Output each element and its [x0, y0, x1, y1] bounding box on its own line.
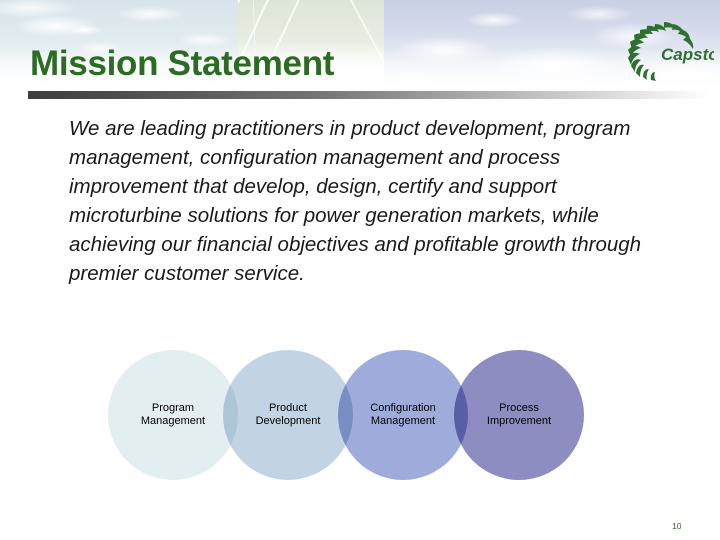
- circle-label-program-management: Program Management: [108, 348, 238, 482]
- circle-label-line2: Management: [371, 415, 435, 429]
- overlapping-circles-diagram: Program Management Product Development C…: [108, 348, 586, 482]
- circle-label-line1: Configuration: [370, 402, 435, 416]
- page-number: 10: [672, 521, 681, 531]
- logo-wordmark: Capstone: [661, 45, 714, 64]
- circle-label-process-improvement: Process Improvement: [454, 348, 584, 482]
- circle-label-line2: Management: [141, 415, 205, 429]
- circle-label-line1: Program: [152, 402, 194, 416]
- circle-label-line1: Product: [269, 402, 307, 416]
- circle-label-line1: Process: [499, 402, 539, 416]
- circle-label-line2: Development: [256, 415, 321, 429]
- capstone-logo: Capstone: [620, 18, 714, 84]
- circle-label-configuration-management: Configuration Management: [338, 348, 468, 482]
- capstone-turbine-spiral-icon: Capstone: [620, 18, 714, 84]
- title-divider: [28, 91, 711, 99]
- circle-label-line2: Improvement: [487, 415, 551, 429]
- page-title: Mission Statement: [30, 46, 334, 81]
- circle-label-product-development: Product Development: [223, 348, 353, 482]
- mission-statement-text: We are leading practitioners in product …: [69, 114, 665, 288]
- slide: Mission Statement: [0, 0, 720, 540]
